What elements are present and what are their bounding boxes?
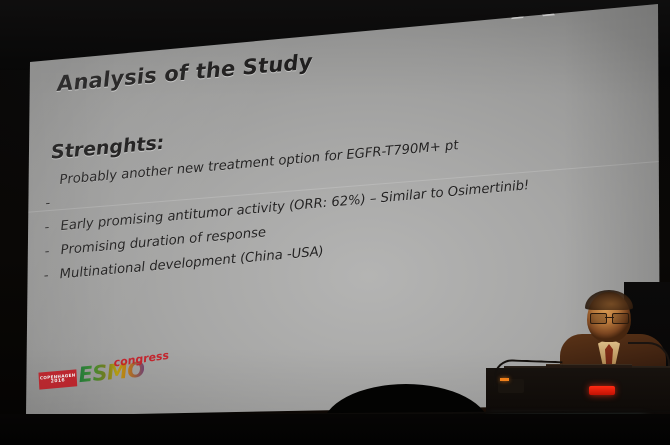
glasses-left-lens: [590, 313, 607, 324]
stage-floor: [0, 414, 670, 445]
speaker-glasses-icon: [590, 313, 629, 322]
podium-control-device: [498, 379, 524, 393]
red-indicator-light: [589, 386, 615, 395]
amber-led-indicator: [500, 378, 509, 381]
conference-photo-stage: Analysis of the Study Strenghts: - Proba…: [0, 0, 670, 445]
glasses-right-lens: [612, 313, 629, 324]
